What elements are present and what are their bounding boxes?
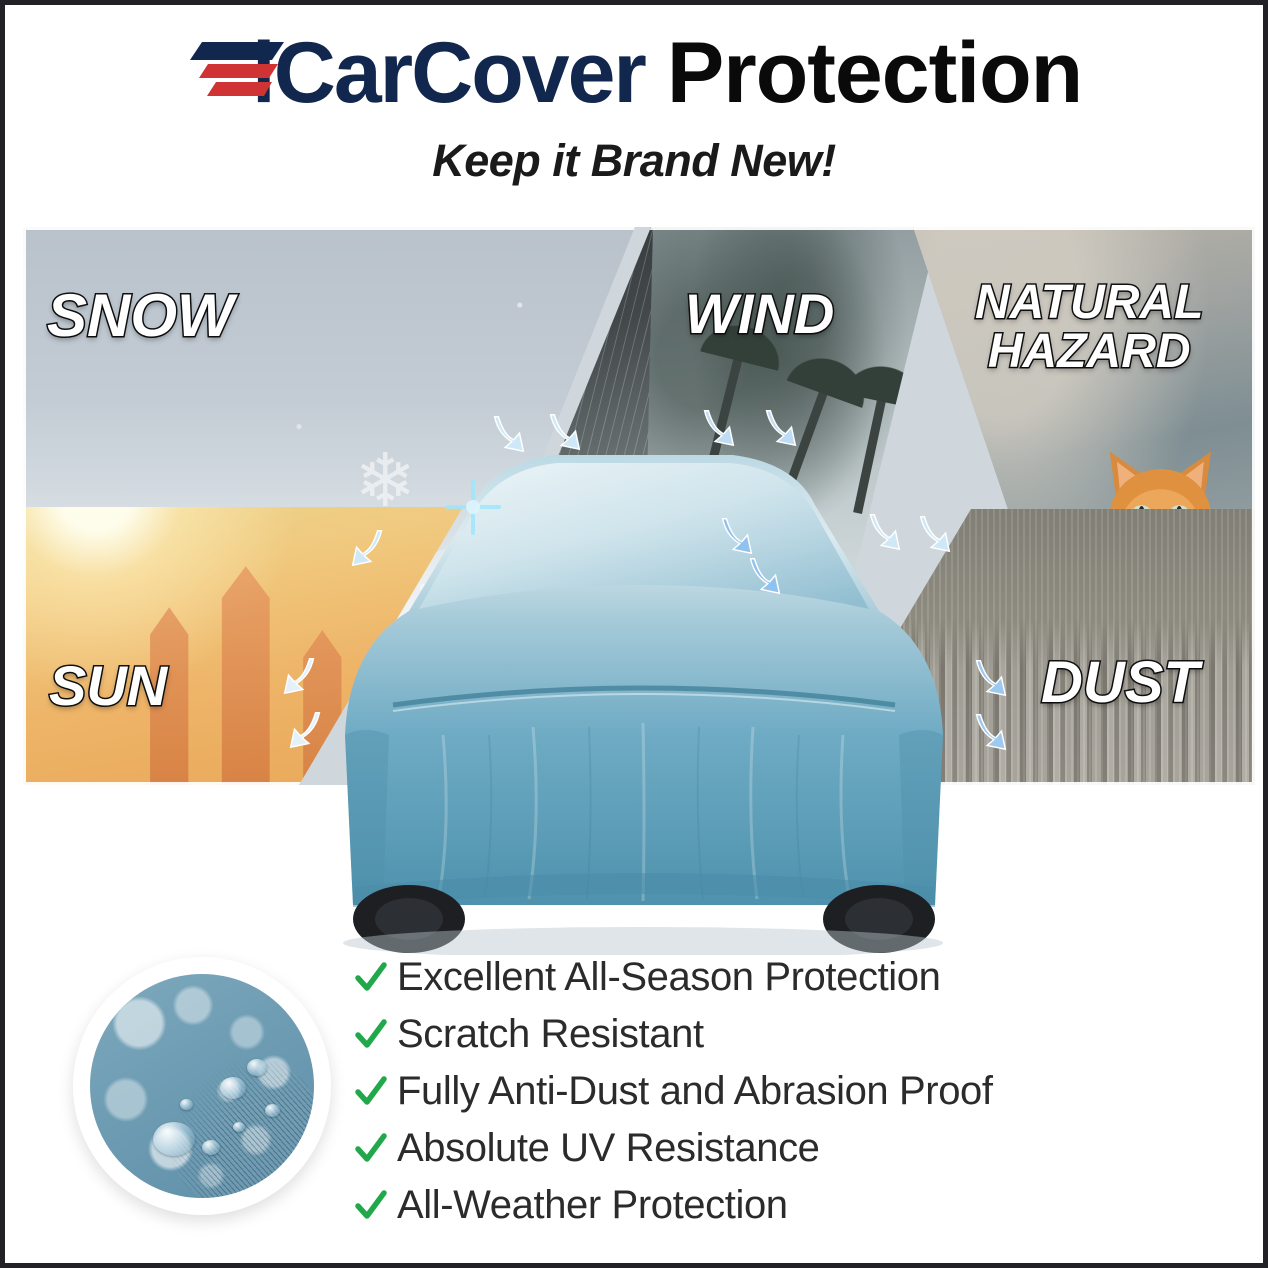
bottom-section: Excellent All-Season Protection Scratch … bbox=[5, 935, 1263, 1235]
brand-suffix: Protection bbox=[667, 34, 1082, 112]
panel-label-natural-hazard: NATURAL HAZARD bbox=[975, 279, 1203, 377]
panel-label-sun: SUN bbox=[49, 657, 167, 714]
water-droplet bbox=[265, 1104, 280, 1117]
list-item: Fully Anti-Dust and Abrasion Proof bbox=[345, 1063, 1185, 1120]
list-item: All-Weather Protection bbox=[345, 1177, 1185, 1234]
airflow-arrow-icon bbox=[541, 409, 587, 455]
feature-label: Fully Anti-Dust and Abrasion Proof bbox=[397, 1069, 993, 1114]
feature-label: Scratch Resistant bbox=[397, 1012, 704, 1057]
airflow-arrow-icon bbox=[695, 405, 741, 451]
feature-label: Excellent All-Season Protection bbox=[397, 955, 940, 1000]
brand-lockup: i CarCover Protection bbox=[5, 27, 1263, 119]
feature-label: Absolute UV Resistance bbox=[397, 1126, 820, 1171]
check-icon bbox=[345, 1189, 397, 1223]
water-beading-swatch bbox=[73, 957, 331, 1215]
feature-list: Excellent All-Season Protection Scratch … bbox=[345, 949, 1185, 1234]
fabric-closeup bbox=[90, 974, 314, 1198]
check-icon bbox=[345, 1132, 397, 1166]
list-item: Excellent All-Season Protection bbox=[345, 949, 1185, 1006]
airflow-arrow-icon bbox=[485, 411, 531, 457]
airflow-arrow-icon bbox=[967, 709, 1013, 755]
tagline: Keep it Brand New! bbox=[5, 135, 1263, 187]
airflow-arrow-icon bbox=[911, 511, 957, 557]
airflow-arrow-icon bbox=[345, 525, 391, 571]
panel-label-wind: WIND bbox=[685, 285, 834, 342]
check-icon bbox=[345, 1075, 397, 1109]
header: i CarCover Protection Keep it Brand New! bbox=[5, 27, 1263, 197]
airflow-arrow-icon bbox=[741, 553, 787, 599]
airflow-arrow-icon bbox=[283, 707, 329, 753]
panel-label-dust: DUST bbox=[1041, 653, 1199, 712]
airflow-arrow-icon bbox=[757, 405, 803, 451]
panel-label-snow: SNOW bbox=[47, 285, 234, 346]
water-droplet bbox=[153, 1122, 195, 1156]
airflow-arrow-icon bbox=[861, 509, 907, 555]
water-droplet bbox=[202, 1140, 220, 1155]
check-icon bbox=[345, 961, 397, 995]
brand-name: CarCover bbox=[274, 34, 645, 112]
product-infographic: i CarCover Protection Keep it Brand New!… bbox=[0, 0, 1268, 1268]
icarcover-wing-logo-icon bbox=[186, 34, 294, 112]
water-droplet bbox=[220, 1077, 246, 1099]
airflow-arrow-icon bbox=[277, 653, 323, 699]
airflow-arrow-icon bbox=[967, 655, 1013, 701]
feature-label: All-Weather Protection bbox=[397, 1183, 788, 1228]
check-icon bbox=[345, 1018, 397, 1052]
list-item: Absolute UV Resistance bbox=[345, 1120, 1185, 1177]
list-item: Scratch Resistant bbox=[345, 1006, 1185, 1063]
water-droplet bbox=[247, 1059, 267, 1076]
